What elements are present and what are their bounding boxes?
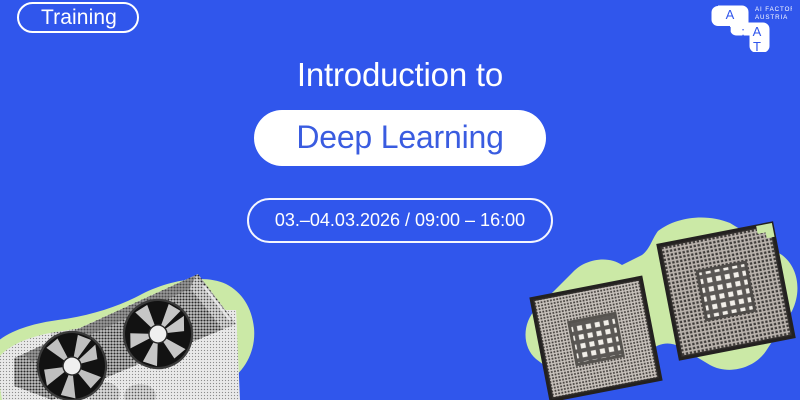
training-badge: Training [17,2,139,33]
logo-letter-t: T [753,39,761,52]
page-title: Introduction to [297,56,503,94]
cpu-chip-upper [658,223,794,359]
logo-colon: : [741,24,745,39]
ai-factory-austria-logo: A I : A T AI FACTORY AUSTRIA [708,2,792,52]
schedule-pill: 03.–04.03.2026 / 09:00 – 16:00 [247,198,553,243]
course-subject-pill: Deep Learning [254,110,545,166]
cpu-chips-photo [530,215,800,400]
gpu-graphics-card-photo [0,250,290,400]
logo-letter-a-top: A [726,7,735,22]
logo-brand-line-2: AUSTRIA [755,14,788,21]
training-badge-label: Training [41,7,117,28]
training-poster: Training A I : A T AI FACTORY AUSTRIA [0,0,800,400]
logo-brand-line-1: AI FACTORY [755,6,792,13]
logo-letter-a-right: A [753,24,762,39]
cpu-chip-lower [531,277,661,400]
logo-letter-i: I [728,24,732,39]
